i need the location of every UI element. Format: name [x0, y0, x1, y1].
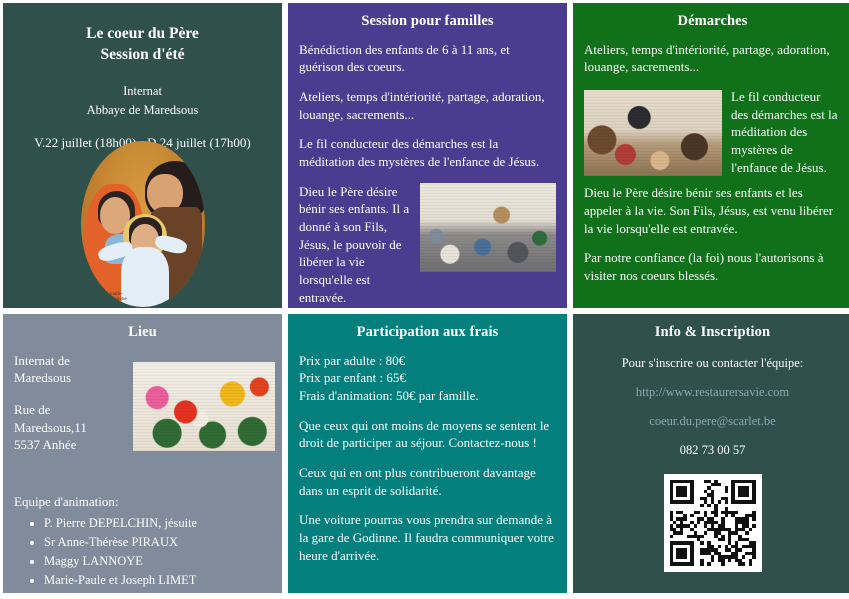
- demarches-beside-photo-2: Dieu le Père désire bénir ses enfants et…: [584, 184, 841, 202]
- heading-line-1: Le coeur du Père: [14, 24, 271, 45]
- panel-info-title: Info & Inscription: [584, 323, 841, 342]
- panel-demarches-title: Démarches: [584, 12, 841, 31]
- list-item: Sr Joseph-Marie MARMOY: [44, 590, 271, 593]
- demarches-intro: Ateliers, temps d'intériorité, partage, …: [584, 41, 841, 76]
- team-label: Equipe d'animation:: [14, 494, 271, 510]
- session-paragraph-3: Le fil conducteur des démarches est la m…: [299, 135, 556, 170]
- panel-lieu-title: Lieu: [14, 323, 271, 342]
- teaching-room-photo: [584, 90, 722, 176]
- price-adult: Prix par adulte : 80€: [299, 352, 556, 370]
- venue-block: Internat Abbaye de Maredsous: [14, 82, 271, 120]
- session-paragraph-1: Bénédiction des enfants de 6 à 11 ans, e…: [299, 41, 556, 76]
- panel-lieu: Lieu Internat de Maredsous Rue de Mareds…: [3, 314, 282, 593]
- email-link[interactable]: coeur.du.pere@scarlet.be: [649, 414, 775, 428]
- list-item: P. Pierre DEPELCHIN, jésuite: [44, 514, 271, 533]
- chapel-assembly-photo: [420, 183, 556, 272]
- list-item: Sr Anne-Thérèse PIRAUX: [44, 533, 271, 552]
- panel-info-inscription: Info & Inscription Pour s'inscrire ou co…: [573, 314, 849, 593]
- venue-line-2: Abbaye de Maredsous: [14, 101, 271, 120]
- panel-title: Le coeur du Père Session d'été Internat …: [3, 3, 282, 308]
- venue-line-1: Internat: [14, 82, 271, 101]
- website-line: http://www.restaurersavie.com: [584, 385, 841, 400]
- panel-participation-frais: Participation aux frais Prix par adulte …: [288, 314, 567, 593]
- demarches-closing: Par notre confiance (la foi) nous l'auto…: [584, 249, 841, 284]
- panel-session-familles: Session pour familles Bénédiction des en…: [288, 3, 567, 308]
- lieu-address-line-2: Rue de Maredsous,11: [14, 401, 126, 436]
- demarches-photo-block: Le fil conducteur des démarches est la m…: [584, 88, 841, 202]
- info-intro: Pour s'inscrire ou contacter l'équipe:: [584, 356, 841, 371]
- list-item: Marie-Paule et Joseph LIMET: [44, 571, 271, 590]
- team-list: P. Pierre DEPELCHIN, jésuite Sr Anne-Thé…: [14, 514, 271, 593]
- panel-frais-title: Participation aux frais: [299, 323, 556, 342]
- artwork-signature: a. marie-dominique: [105, 292, 142, 300]
- session-paragraph-2: Ateliers, temps d'intériorité, partage, …: [299, 88, 556, 123]
- icon-oval-frame: a. marie-dominique: [81, 141, 205, 307]
- flyer-heading: Le coeur du Père Session d'été: [14, 24, 271, 66]
- frais-paragraph-3: Une voiture pourras vous prendra sur dem…: [299, 511, 556, 564]
- holy-family-icon: a. marie-dominique: [81, 141, 205, 307]
- panel-session-title: Session pour familles: [299, 12, 556, 31]
- list-item: Maggy LANNOYE: [44, 552, 271, 571]
- qr-code-wrapper: [664, 474, 762, 572]
- email-line: coeur.du.pere@scarlet.be: [584, 414, 841, 429]
- website-link[interactable]: http://www.restaurersavie.com: [636, 385, 789, 399]
- flowers-arrangement-photo: [133, 362, 275, 451]
- session-closing-paragraph: Dieu le Père désire bénir ses enfants. I…: [299, 183, 419, 307]
- phone-number: 082 73 00 57: [584, 443, 841, 458]
- qr-code[interactable]: [670, 480, 756, 566]
- price-animation: Frais d'animation: 50€ par famille.: [299, 387, 556, 405]
- flyer-grid: Le coeur du Père Session d'été Internat …: [0, 0, 849, 599]
- frais-paragraph-1: Que ceux qui ont moins de moyens se sent…: [299, 417, 556, 452]
- panel-demarches: Démarches Ateliers, temps d'intériorité,…: [573, 3, 849, 308]
- demarches-wrap-text: appeler à la vie. Son Fils, Jésus, est v…: [584, 202, 841, 237]
- frais-paragraph-2: Ceux qui en ont plus contribueront davan…: [299, 464, 556, 499]
- lieu-address-line-1: Internat de Maredsous: [14, 352, 126, 387]
- price-child: Prix par enfant : 65€: [299, 369, 556, 387]
- lieu-address-line-3: 5537 Anhée: [14, 436, 126, 454]
- heading-line-2: Session d'été: [14, 45, 271, 66]
